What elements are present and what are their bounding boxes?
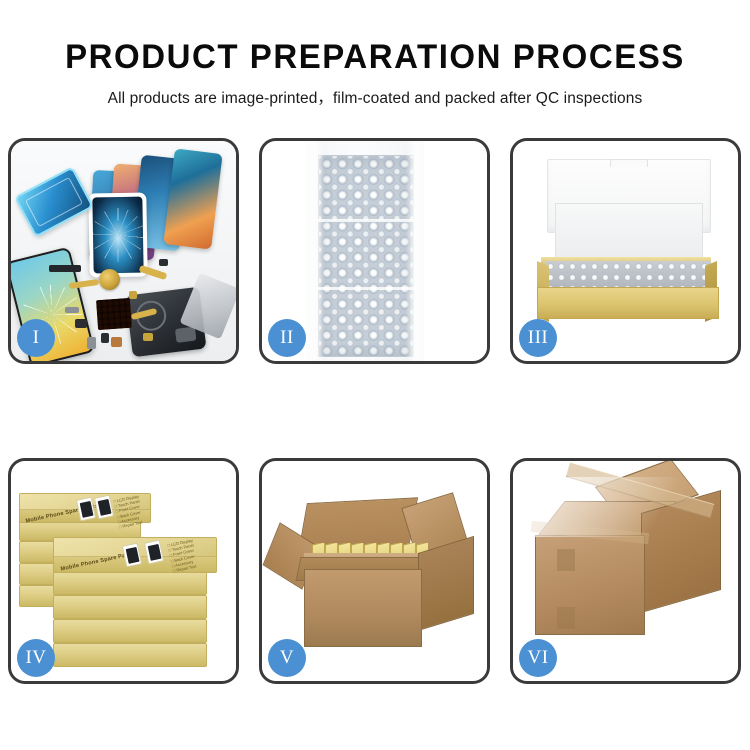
process-step-panel-4: Mobile Phone Spare Parts □ LCD Display □… xyxy=(8,458,239,684)
carton-front-face xyxy=(535,535,645,635)
carton-front-face xyxy=(304,569,422,647)
component-icon xyxy=(129,291,137,299)
box-stack: Mobile Phone Spare Parts □ LCD Display □… xyxy=(19,477,229,669)
kraft-box xyxy=(53,595,207,619)
component-icon xyxy=(111,337,122,347)
component-icon xyxy=(65,307,79,313)
step-badge-6: VI xyxy=(519,639,557,677)
kraft-box xyxy=(53,643,207,667)
step-badge-5: V xyxy=(268,639,306,677)
product-preparation-infographic: PRODUCT PREPARATION PROCESS All products… xyxy=(0,0,750,750)
speaker-coil-icon xyxy=(99,269,120,290)
kraft-box xyxy=(53,619,207,643)
kraft-box-front-icon xyxy=(537,287,719,319)
carton-handle-tab xyxy=(557,549,575,571)
wrap-seam-line xyxy=(312,219,418,222)
component-icon xyxy=(143,333,153,341)
component-icon xyxy=(101,333,109,343)
process-step-grid: I II xyxy=(8,138,742,686)
process-step-panel-2: II xyxy=(259,138,490,364)
page-title: PRODUCT PREPARATION PROCESS xyxy=(11,40,739,74)
earpiece-icon xyxy=(49,265,81,272)
process-step-panel-3: III xyxy=(510,138,741,364)
page-subtitle: All products are image-printed，film-coat… xyxy=(0,86,750,108)
kraft-box xyxy=(53,571,207,595)
chip-array-icon xyxy=(96,298,132,330)
component-icon xyxy=(159,259,168,266)
step-badge-3: III xyxy=(519,319,557,357)
wrap-seam-line xyxy=(312,287,418,290)
carton-handle-tab xyxy=(557,607,575,629)
process-step-panel-1: I xyxy=(8,138,239,364)
step-badge-4: IV xyxy=(17,639,55,677)
process-step-panel-6: VI xyxy=(510,458,741,684)
component-icon xyxy=(87,337,96,349)
carton-side-face xyxy=(418,536,474,631)
kraft-box-printed: Mobile Phone Spare Parts □ LCD Display □… xyxy=(19,493,151,523)
bubble-wrap-icon xyxy=(318,155,414,357)
step-badge-2: II xyxy=(268,319,306,357)
screen-glass-icon xyxy=(88,193,147,278)
process-step-panel-5: V xyxy=(259,458,490,684)
kraft-box-printed: Mobile Phone Spare Parts □ LCD Display □… xyxy=(53,537,217,573)
component-icon xyxy=(75,319,87,328)
step-badge-1: I xyxy=(17,319,55,357)
